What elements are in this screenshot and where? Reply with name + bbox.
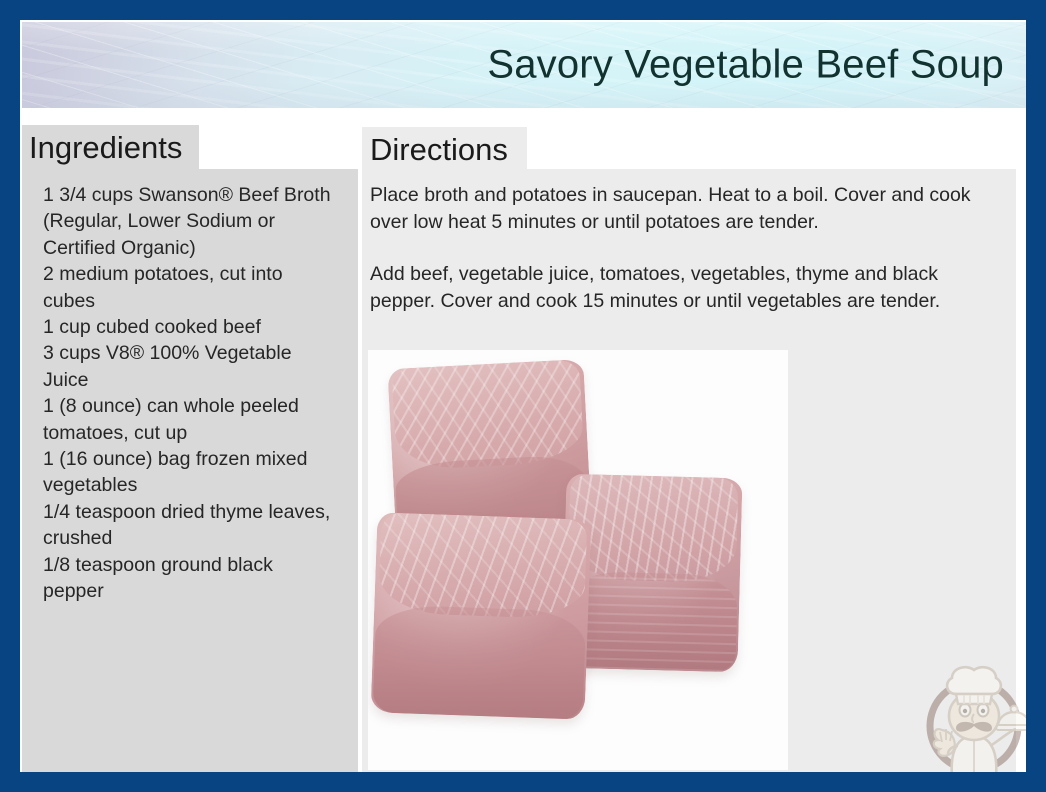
ingredient-line: 3 cups V8® 100% Vegetable [43,340,350,366]
ingredient-line: pepper [43,578,350,604]
beef-cubes-photo [368,350,788,770]
ingredient-line: 1/4 teaspoon dried thyme leaves, [43,499,350,525]
cube-side-face [563,571,738,672]
ingredients-list: 1 3/4 cups Swanson® Beef Broth(Regular, … [22,182,356,605]
cube-top-face [567,474,739,583]
ingredient-line: 1 3/4 cups Swanson® Beef Broth [43,182,350,208]
title-banner: Savory Vegetable Beef Soup [22,22,1026,108]
directions-heading: Directions [370,130,508,170]
ingredient-line: Juice [43,367,350,393]
ingredient-line: 1 (16 ounce) bag frozen mixed [43,446,350,472]
direction-paragraph: Add beef, vegetable juice, tomatoes, veg… [370,261,998,314]
ingredient-line: Certified Organic) [43,235,350,261]
ingredient-line: (Regular, Lower Sodium or [43,208,350,234]
ingredient-line: 2 medium potatoes, cut into [43,261,350,287]
ingredient-line: crushed [43,525,350,551]
directions-body: Place broth and potatoes in saucepan. He… [362,182,1016,314]
direction-paragraph: Place broth and potatoes in saucepan. He… [370,182,998,235]
beef-cube-bottom-left [371,512,592,719]
cube-side-face [373,604,586,719]
slide-content-area: Savory Vegetable Beef Soup Ingredients 1… [20,20,1026,772]
ingredient-line: 1 cup cubed cooked beef [43,314,350,340]
ingredients-heading: Ingredients [29,128,182,168]
ingredient-line: 1/8 teaspoon ground black [43,552,350,578]
cube-top-face [378,512,587,619]
cube-top-face [391,359,584,471]
ingredient-line: vegetables [43,472,350,498]
ingredient-line: 1 (8 ounce) can whole peeled [43,393,350,419]
ingredient-line: tomatoes, cut up [43,420,350,446]
ingredient-line: cubes [43,288,350,314]
recipe-slide: Savory Vegetable Beef Soup Ingredients 1… [0,0,1046,792]
page-title: Savory Vegetable Beef Soup [487,43,1004,88]
